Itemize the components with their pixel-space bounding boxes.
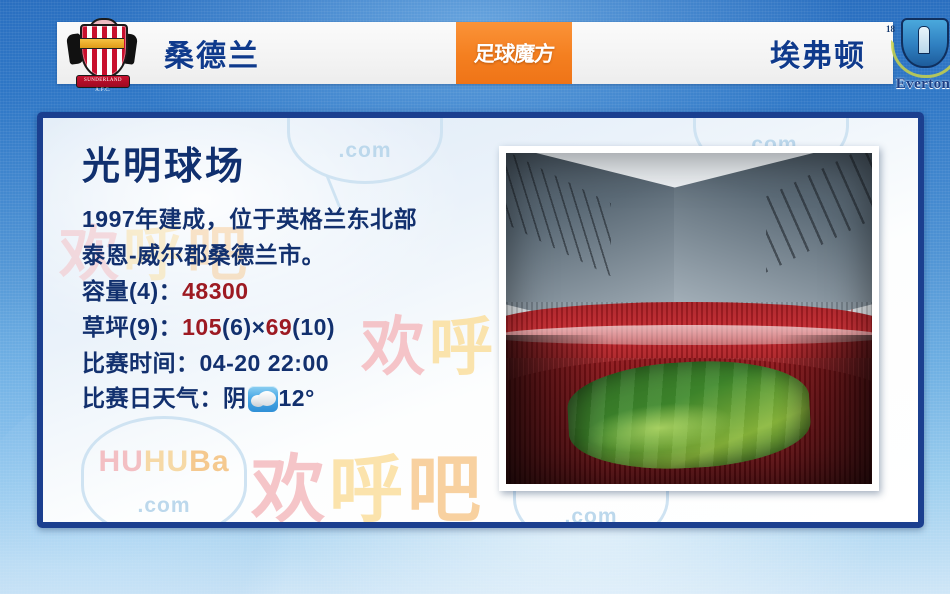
cloudy-icon	[248, 386, 278, 412]
everton-name-text: Everton	[884, 76, 950, 93]
pitch-width-rank: (10)	[292, 314, 335, 340]
match-time-label: 比赛时间：	[82, 350, 200, 376]
pitch-label: 草坪(9)：	[82, 314, 182, 340]
watermark-dotcom-right: .com	[516, 505, 666, 528]
match-time-value: 04-20 22:00	[200, 350, 330, 376]
sunderland-crest-icon: SUNDERLAND A.F.C.	[66, 18, 138, 88]
site-logo[interactable]: 足球魔方	[456, 22, 572, 84]
stadium-photo	[506, 153, 872, 484]
capacity-label: 容量(4)：	[82, 278, 182, 304]
crest-scroll: SUNDERLAND A.F.C.	[76, 75, 130, 88]
pitch-separator: ×	[252, 314, 266, 340]
everton-wreath	[891, 40, 950, 78]
capacity-value: 48300	[182, 278, 248, 304]
home-team-block[interactable]: SUNDERLAND A.F.C. 桑德兰	[57, 22, 456, 84]
everton-year-left: 18	[886, 24, 895, 34]
watermark-huhuba: HUHUBa	[84, 445, 244, 479]
weather-condition: 阴	[223, 385, 247, 411]
weather-label: 比赛日天气：	[82, 385, 223, 411]
watermark-brand-bottom: 欢呼吧	[251, 430, 485, 528]
weather-temperature: 12°	[279, 385, 315, 411]
away-team-name: 埃弗顿	[770, 31, 866, 75]
home-team-name: 桑德兰	[164, 31, 260, 75]
stadium-info-panel: .com HUHUBa .com .com .com 欢呼吧 欢呼吧 欢呼吧 光…	[37, 112, 924, 528]
crest-band	[80, 38, 124, 49]
watermark-bubble-bottom: HUHUBa .com	[81, 416, 247, 528]
pitch-length-value: 105	[182, 314, 222, 340]
match-header-bar: SUNDERLAND A.F.C. 桑德兰 足球魔方 埃弗顿 18 78 Eve…	[57, 22, 893, 84]
crest-shield	[80, 24, 128, 78]
stadium-photo-frame[interactable]	[499, 146, 879, 491]
pitch-length-rank: (6)	[222, 314, 252, 340]
site-logo-text: 足球魔方	[473, 38, 555, 68]
pitch-width-value: 69	[266, 314, 293, 340]
watermark-dotcom-bottom: .com	[84, 494, 244, 518]
everton-crest-icon: 18 78 Everton	[884, 14, 950, 92]
away-team-block[interactable]: 埃弗顿 18 78 Everton	[572, 22, 950, 84]
app-background: SUNDERLAND A.F.C. 桑德兰 足球魔方 埃弗顿 18 78 Eve…	[0, 0, 950, 594]
photo-vignette	[506, 153, 872, 484]
